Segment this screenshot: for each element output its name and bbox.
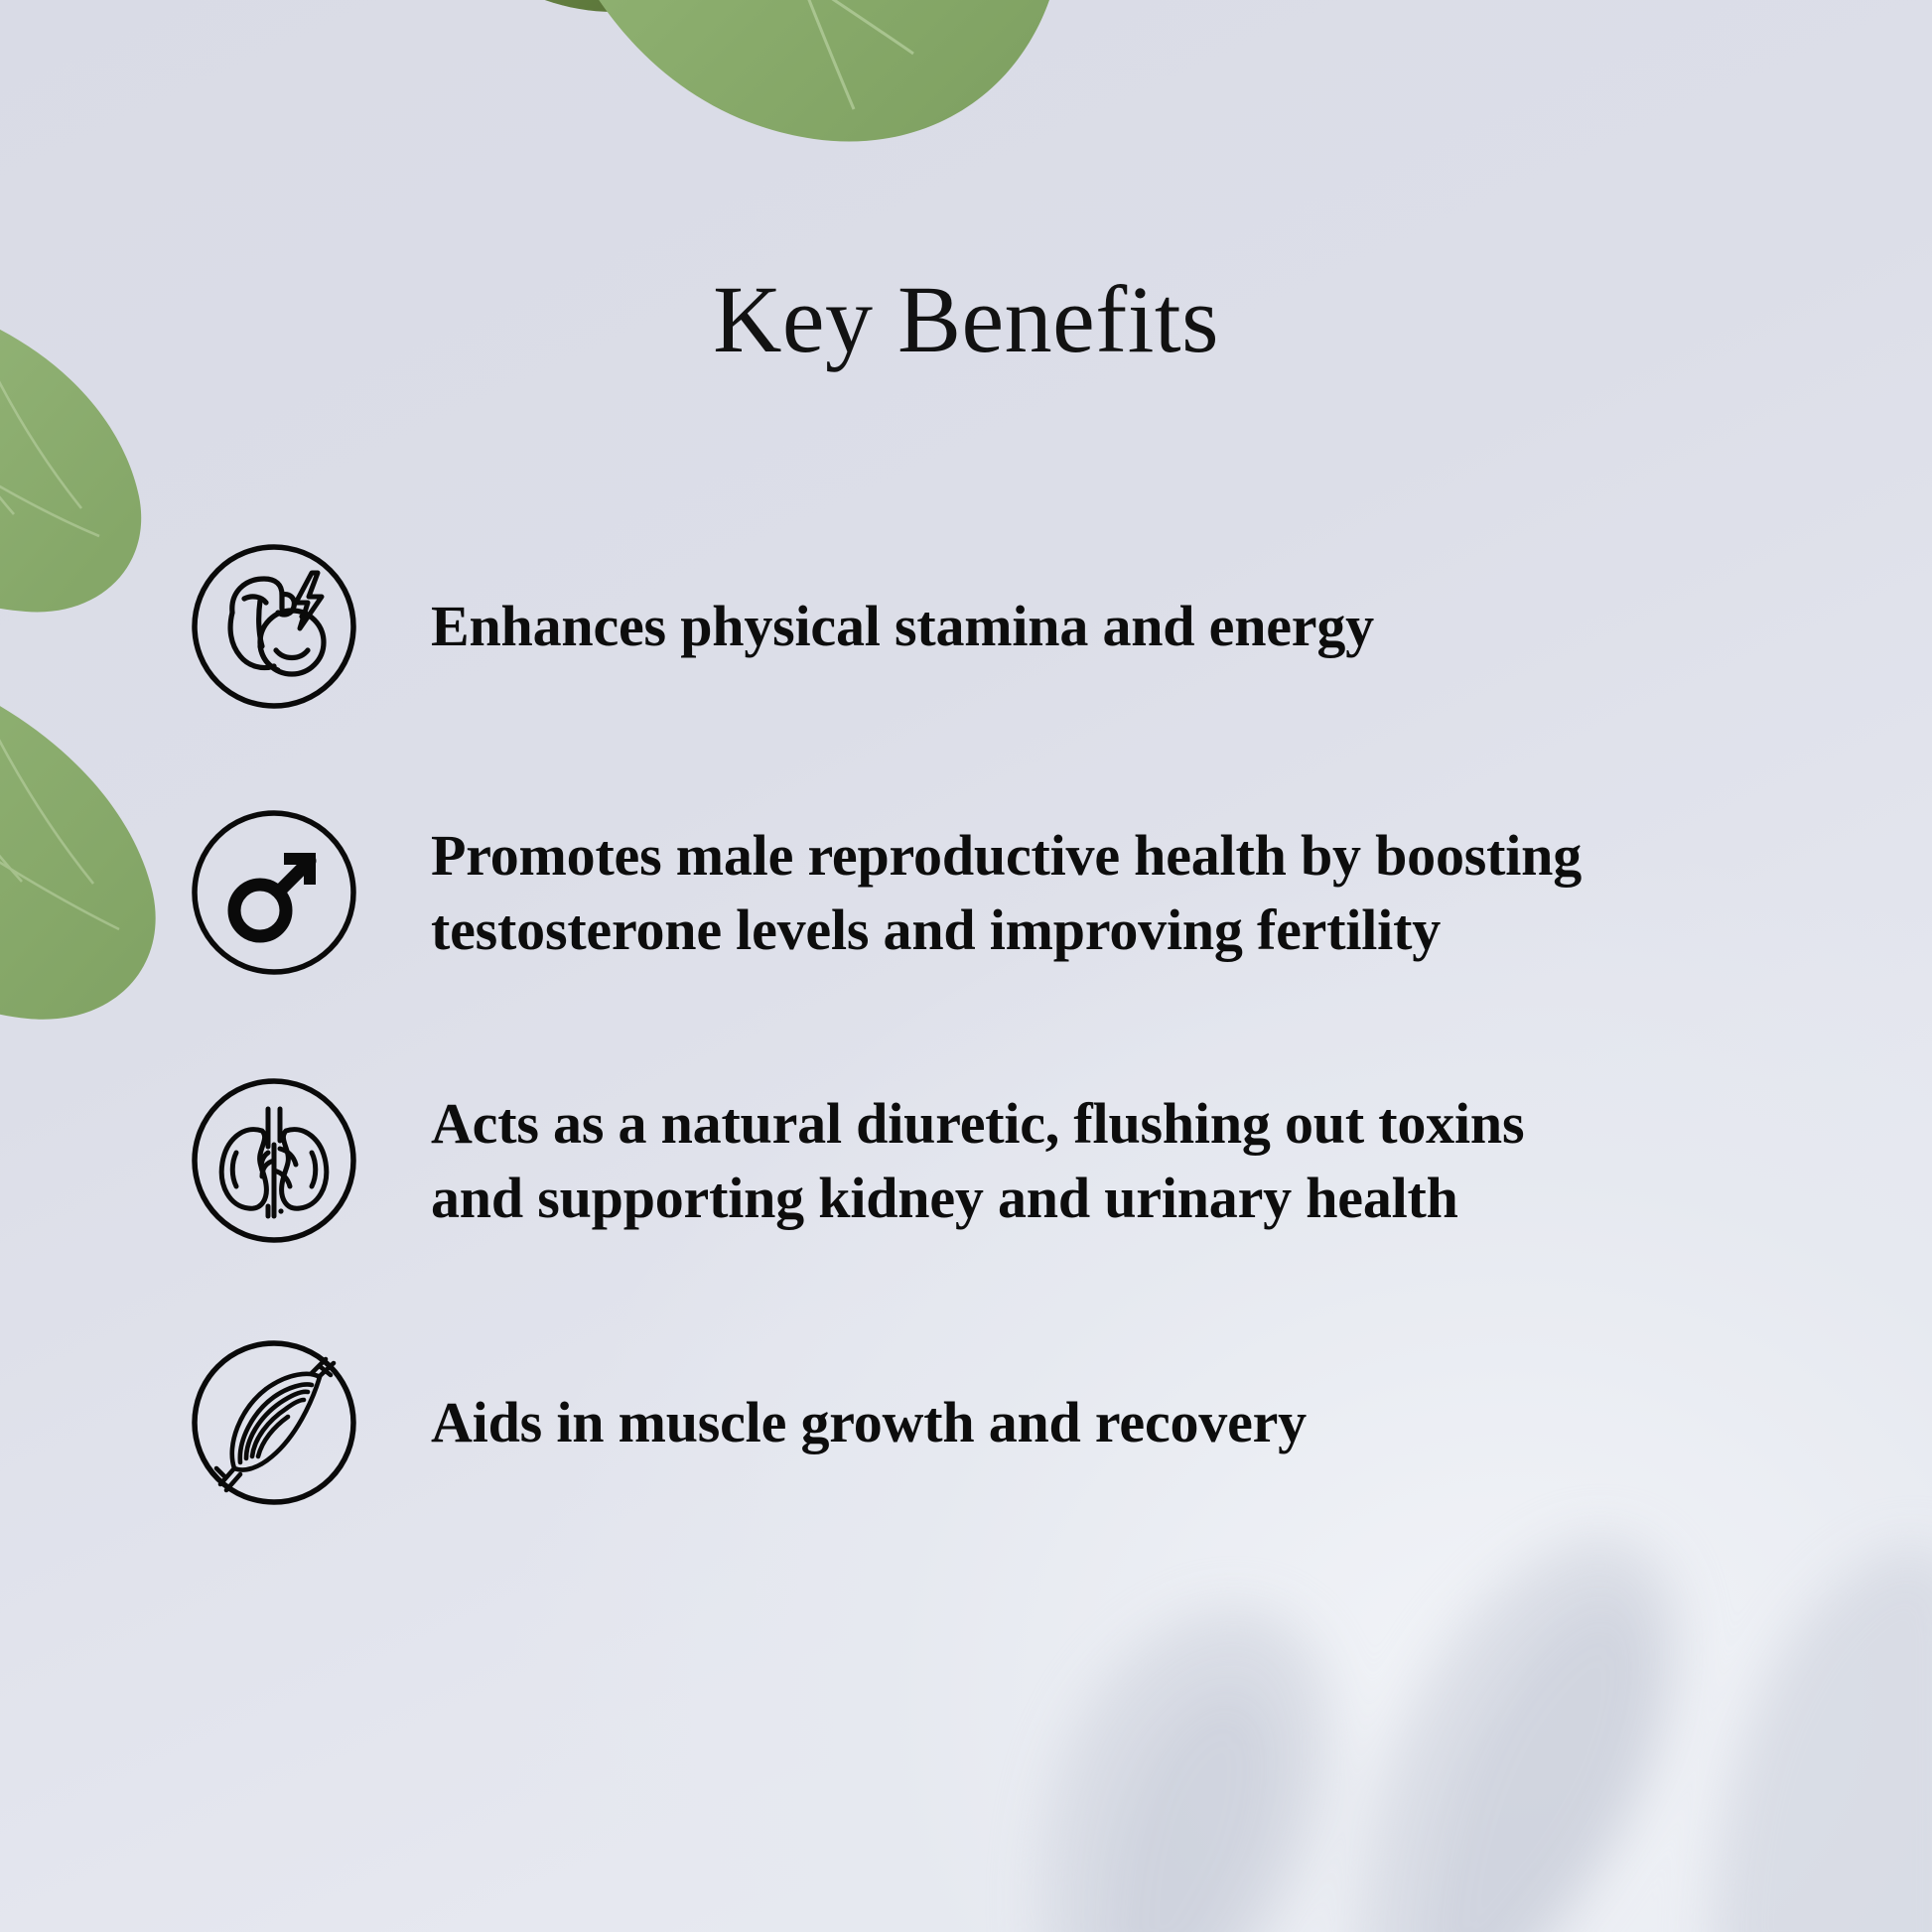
benefit-text: Enhances physical stamina and energy — [431, 589, 1374, 663]
benefits-list: Enhances physical stamina and energy Pro… — [189, 541, 1817, 1508]
benefit-line: Aids in muscle growth and recovery — [431, 1385, 1307, 1459]
benefit-line: Promotes male reproductive health by boo… — [431, 818, 1582, 893]
flexing-arm-energy-icon — [189, 541, 359, 712]
benefit-line: Acts as a natural diuretic, flushing out… — [431, 1086, 1524, 1161]
kidneys-icon — [189, 1075, 359, 1246]
top-leaves-decor — [298, 0, 1052, 278]
benefit-text: Promotes male reproductive health by boo… — [431, 818, 1582, 968]
male-gender-icon — [189, 807, 359, 978]
muscle-fiber-icon — [189, 1337, 359, 1508]
benefit-line: testosterone levels and improving fertil… — [431, 893, 1582, 967]
benefit-line: Enhances physical stamina and energy — [431, 589, 1374, 663]
benefit-item-male-health: Promotes male reproductive health by boo… — [189, 807, 1817, 978]
benefit-line: and supporting kidney and urinary health — [431, 1161, 1524, 1235]
poster-canvas: Key Benefits — [0, 0, 1932, 1932]
left-lower-leaf-decor — [0, 616, 189, 1052]
page-title: Key Benefits — [0, 270, 1932, 370]
benefit-item-diuretic: Acts as a natural diuretic, flushing out… — [189, 1075, 1817, 1246]
benefit-item-muscle: Aids in muscle growth and recovery — [189, 1337, 1817, 1508]
benefit-text: Acts as a natural diuretic, flushing out… — [431, 1086, 1524, 1236]
benefit-item-stamina: Enhances physical stamina and energy — [189, 541, 1817, 712]
benefit-text: Aids in muscle growth and recovery — [431, 1385, 1307, 1459]
